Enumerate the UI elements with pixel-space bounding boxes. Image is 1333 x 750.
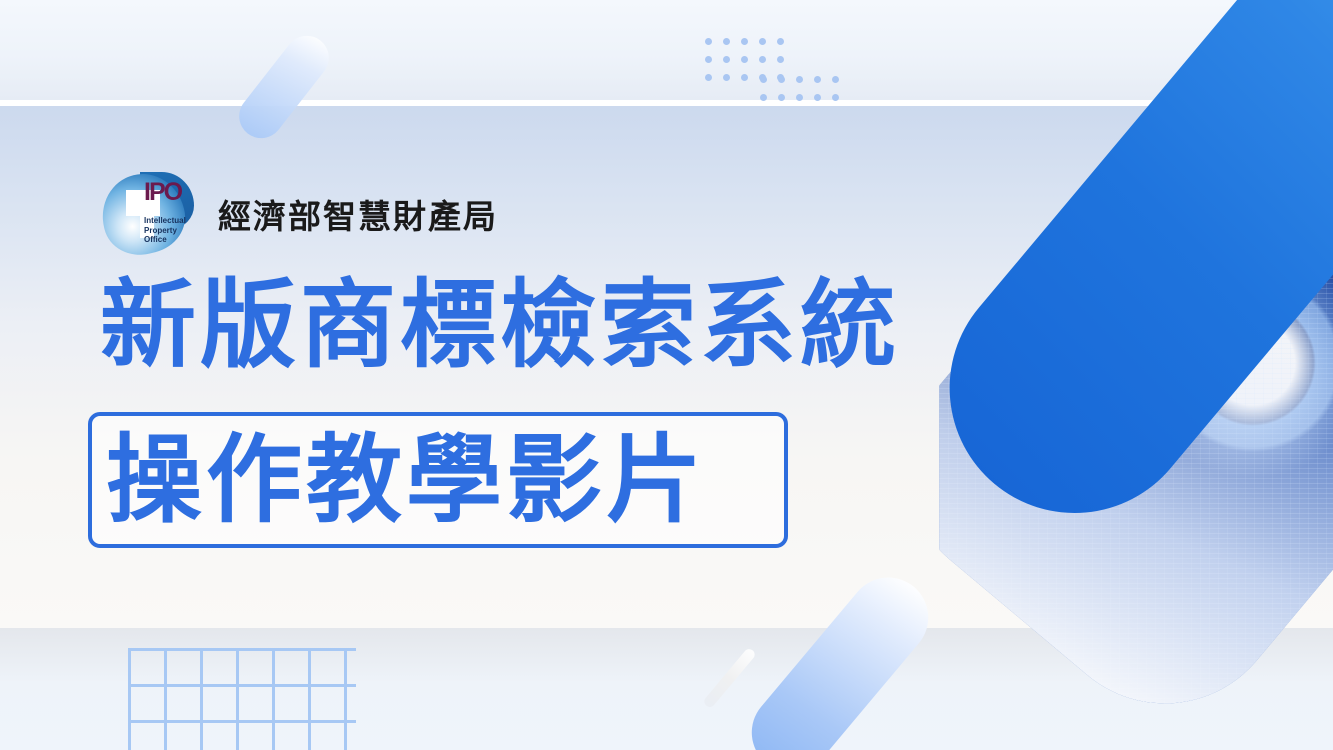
dot (705, 56, 712, 63)
dot (705, 74, 712, 81)
slide-canvas: IPO Intellectual Property Office 經濟部智慧財產… (0, 0, 1333, 750)
dot (796, 94, 803, 101)
dot (723, 74, 730, 81)
logo-subtext: Intellectual Property Office (144, 216, 198, 245)
dot (705, 38, 712, 45)
dot (778, 76, 785, 83)
dot (759, 38, 766, 45)
grid-line-vertical (272, 648, 275, 750)
ipo-logo-icon: IPO Intellectual Property Office (100, 168, 200, 260)
grid-line-horizontal (128, 648, 356, 651)
grid-line-vertical (164, 648, 167, 750)
dot (741, 74, 748, 81)
dot (723, 38, 730, 45)
grid-line-vertical (236, 648, 239, 750)
organization-name: 經濟部智慧財產局 (218, 190, 498, 238)
grid-line-vertical (308, 648, 311, 750)
dot (723, 56, 730, 63)
grid-line-horizontal (128, 720, 356, 723)
logo-subtext-line-1: Intellectual (144, 216, 198, 226)
dot (760, 76, 767, 83)
page-subtitle: 操作教學影片 (106, 432, 706, 528)
dot (796, 76, 803, 83)
dot (741, 56, 748, 63)
dot (778, 94, 785, 101)
background-band-top (0, 0, 1333, 100)
logo-subtext-line-2: Property (144, 226, 198, 236)
page-title: 新版商標檢索系統 (100, 274, 900, 378)
dot (832, 94, 839, 101)
dot (814, 94, 821, 101)
brand-header: IPO Intellectual Property Office 經濟部智慧財產… (100, 168, 498, 260)
grid-line-horizontal (128, 684, 356, 687)
logo-subtext-line-3: Office (144, 235, 198, 245)
dot (760, 94, 767, 101)
grid-line-vertical (344, 648, 347, 750)
dot (832, 76, 839, 83)
grid-line-vertical (200, 648, 203, 750)
dot (814, 76, 821, 83)
dot (777, 38, 784, 45)
subtitle-box: 操作教學影片 (88, 412, 788, 548)
dot (759, 56, 766, 63)
grid-line-vertical (128, 648, 131, 750)
dot (777, 56, 784, 63)
dot (741, 38, 748, 45)
line-grid-decoration (128, 648, 356, 750)
logo-mark-text: IPO (144, 180, 181, 205)
